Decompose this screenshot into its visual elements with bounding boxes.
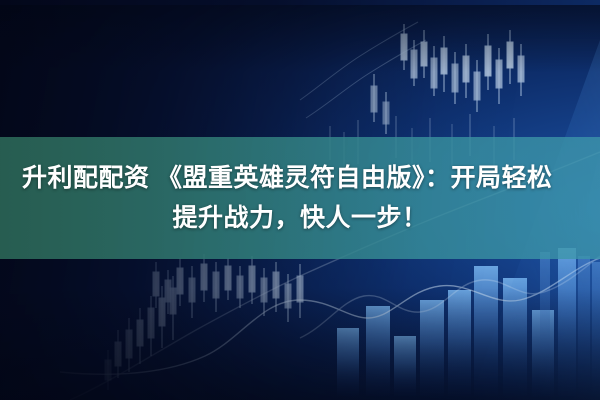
banner-title-line-1: 升利配配资 《盟重英雄灵符自由版》：开局轻松 — [16, 158, 584, 198]
title-text-container: 升利配配资 《盟重英雄灵符自由版》：开局轻松 提升战力，快人一步！ — [0, 158, 600, 238]
banner-title-line-2: 提升战力，快人一步！ — [16, 198, 584, 238]
background-top-strip — [0, 0, 600, 5]
promo-banner: 升利配配资 《盟重英雄灵符自由版》：开局轻松 提升战力，快人一步！ — [0, 0, 600, 400]
title-overlay-band: 升利配配资 《盟重英雄灵符自由版》：开局轻松 提升战力，快人一步！ — [0, 137, 600, 259]
